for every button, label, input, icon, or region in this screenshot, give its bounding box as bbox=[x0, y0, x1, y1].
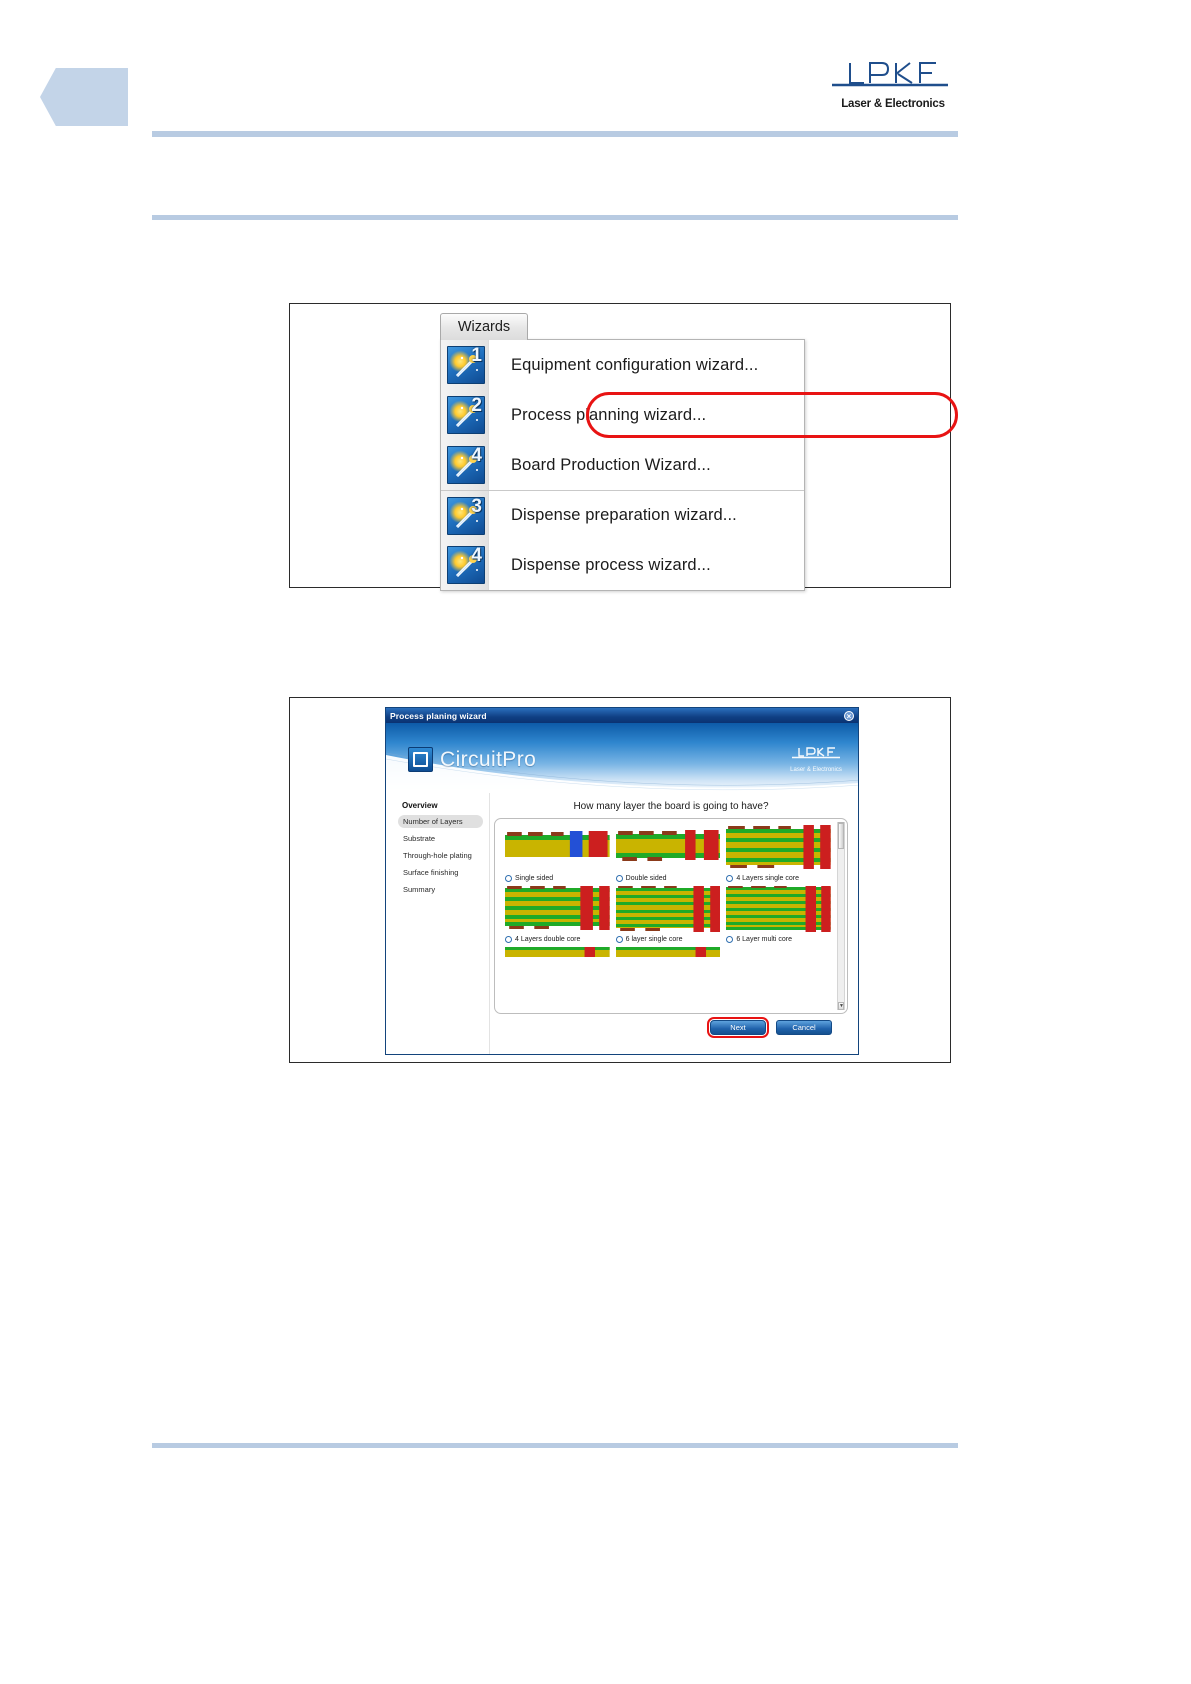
option-label-row: Single sided bbox=[505, 875, 610, 882]
option-label-row: 4 Layers single core bbox=[726, 875, 831, 882]
options-scrollbar[interactable]: ▲ ▼ bbox=[837, 822, 845, 1010]
option-label-row: 6 layer single core bbox=[616, 936, 721, 943]
option-label: Double sided bbox=[626, 875, 667, 882]
layer-option-single-sided[interactable]: Single sided bbox=[505, 825, 610, 882]
document-page: Laser & Electronics Wizards bbox=[0, 0, 1191, 1684]
lpkf-logo: Laser & Electronics bbox=[828, 55, 958, 110]
close-icon[interactable]: × bbox=[844, 711, 854, 721]
section-rule bbox=[152, 215, 958, 220]
circuitpro-brand-label: CircuitPro bbox=[440, 748, 536, 772]
layer-option-6-layer-multi-core[interactable]: 6 Layer multi core bbox=[726, 886, 831, 943]
layer-option-partial bbox=[505, 947, 610, 993]
pcb-cross-section-icon bbox=[505, 947, 610, 993]
option-label: 6 Layer multi core bbox=[736, 936, 792, 943]
magic-wand-icon: 3 bbox=[447, 497, 485, 535]
magic-wand-icon: 2 bbox=[447, 396, 485, 434]
pcb-cross-section-icon bbox=[616, 886, 721, 932]
layer-option-4-layers-single-core[interactable]: 4 Layers single core bbox=[726, 825, 831, 882]
dialog-footer: Next Cancel bbox=[494, 1014, 848, 1044]
wizard-main-pane: How many layer the board is going to hav… bbox=[490, 793, 858, 1054]
menu-item-number: 1 bbox=[471, 346, 482, 365]
next-button[interactable]: Next bbox=[710, 1020, 766, 1035]
option-label: 4 Layers single core bbox=[736, 875, 799, 882]
layer-options-grid: Single sided bbox=[505, 825, 831, 993]
option-label: 6 layer single core bbox=[626, 936, 683, 943]
lpkf-wordmark-icon bbox=[828, 55, 958, 97]
menu-item-process-planning-wizard[interactable]: 2 Process planning wizard... bbox=[441, 390, 804, 440]
dialog-title-bar: Process planing wizard × bbox=[386, 708, 858, 723]
magic-wand-icon: 1 bbox=[447, 346, 485, 384]
banner-lpkf-subtitle: Laser & Electronics bbox=[790, 767, 842, 773]
menu-item-dispense-preparation-wizard[interactable]: 3 Dispense preparation wizard... bbox=[441, 490, 804, 540]
figure-process-planning-wizard: Process planing wizard × CircuitPro bbox=[289, 697, 951, 1063]
sidebar-title: Overview bbox=[402, 801, 489, 810]
radio-icon[interactable] bbox=[726, 875, 733, 882]
figure-wizards-menu: Wizards 1 Equipment c bbox=[289, 303, 951, 588]
pcb-cross-section-icon bbox=[726, 825, 831, 871]
banner-lpkf-logo: Laser & Electronics bbox=[790, 745, 842, 773]
layer-option-partial bbox=[726, 947, 831, 993]
menu-item-number: 3 bbox=[471, 497, 482, 516]
sidebar-item-surface-finishing[interactable]: Surface finishing bbox=[398, 866, 483, 879]
wizard-sidebar: Overview Number of Layers Substrate Thro… bbox=[386, 793, 490, 1054]
sidebar-item-summary[interactable]: Summary bbox=[398, 883, 483, 896]
pcb-cross-section-icon bbox=[616, 825, 721, 871]
dialog-title: Process planing wizard bbox=[390, 711, 844, 721]
menu-item-label: Dispense process wizard... bbox=[511, 556, 711, 575]
layer-option-6-layer-single-core[interactable]: 6 layer single core bbox=[616, 886, 721, 943]
radio-icon[interactable] bbox=[505, 936, 512, 943]
menu-item-number: 4 bbox=[471, 446, 482, 465]
radio-icon[interactable] bbox=[616, 875, 623, 882]
menu-item-label: Equipment configuration wizard... bbox=[511, 356, 758, 375]
menu-item-number: 2 bbox=[471, 396, 482, 415]
magic-wand-icon: 4 bbox=[447, 546, 485, 584]
wizards-menu: Wizards 1 Equipment c bbox=[440, 313, 805, 591]
sidebar-item-substrate[interactable]: Substrate bbox=[398, 832, 483, 845]
chip-icon bbox=[408, 747, 433, 772]
menu-item-number: 4 bbox=[471, 546, 482, 565]
layer-option-partial bbox=[616, 947, 721, 993]
scroll-down-icon[interactable]: ▼ bbox=[838, 1002, 844, 1010]
menu-item-board-production-wizard[interactable]: 4 Board Production Wizard... bbox=[441, 440, 804, 490]
layer-option-double-sided[interactable]: Double sided bbox=[616, 825, 721, 882]
pcb-cross-section-icon bbox=[505, 886, 610, 932]
dialog-body: Overview Number of Layers Substrate Thro… bbox=[386, 793, 858, 1054]
layer-option-4-layers-double-core[interactable]: 4 Layers double core bbox=[505, 886, 610, 943]
option-label: 4 Layers double core bbox=[515, 936, 580, 943]
pcb-cross-section-icon bbox=[505, 825, 610, 871]
layer-options-panel: Single sided bbox=[494, 818, 848, 1014]
header-tab-shape bbox=[40, 68, 128, 126]
wizards-menu-panel: 1 Equipment configuration wizard... bbox=[440, 339, 805, 591]
magic-wand-icon: 4 bbox=[447, 446, 485, 484]
footer-rule bbox=[152, 1443, 958, 1448]
sidebar-item-number-of-layers[interactable]: Number of Layers bbox=[398, 815, 483, 828]
radio-icon[interactable] bbox=[616, 936, 623, 943]
lpkf-logo-subtitle: Laser & Electronics bbox=[828, 98, 958, 110]
wizard-question: How many layer the board is going to hav… bbox=[494, 801, 848, 812]
sidebar-item-through-hole-plating[interactable]: Through-hole plating bbox=[398, 849, 483, 862]
header-rule bbox=[152, 131, 958, 137]
dialog-banner: CircuitPro Laser & Electronics bbox=[386, 723, 858, 793]
pcb-cross-section-icon bbox=[726, 886, 831, 932]
option-label-row: 6 Layer multi core bbox=[726, 936, 831, 943]
menu-item-dispense-process-wizard[interactable]: 4 Dispense process wizard... bbox=[441, 540, 804, 590]
menu-item-label: Dispense preparation wizard... bbox=[511, 506, 737, 525]
radio-icon[interactable] bbox=[726, 936, 733, 943]
wizards-menu-tab-label: Wizards bbox=[458, 319, 510, 335]
cancel-button[interactable]: Cancel bbox=[776, 1020, 832, 1035]
lpkf-wordmark-icon bbox=[790, 745, 842, 761]
wizards-menu-tab[interactable]: Wizards bbox=[440, 313, 528, 340]
option-label-row: Double sided bbox=[616, 875, 721, 882]
pcb-cross-section-icon bbox=[616, 947, 721, 993]
option-label: Single sided bbox=[515, 875, 553, 882]
radio-icon[interactable] bbox=[505, 875, 512, 882]
menu-item-label: Board Production Wizard... bbox=[511, 456, 711, 475]
option-label-row: 4 Layers double core bbox=[505, 936, 610, 943]
menu-item-label: Process planning wizard... bbox=[511, 406, 706, 425]
process-planning-wizard-window: Process planing wizard × CircuitPro bbox=[385, 707, 859, 1055]
scrollbar-thumb[interactable] bbox=[838, 823, 844, 849]
menu-item-equipment-configuration-wizard[interactable]: 1 Equipment configuration wizard... bbox=[441, 340, 804, 390]
circuitpro-logo: CircuitPro bbox=[408, 747, 536, 772]
